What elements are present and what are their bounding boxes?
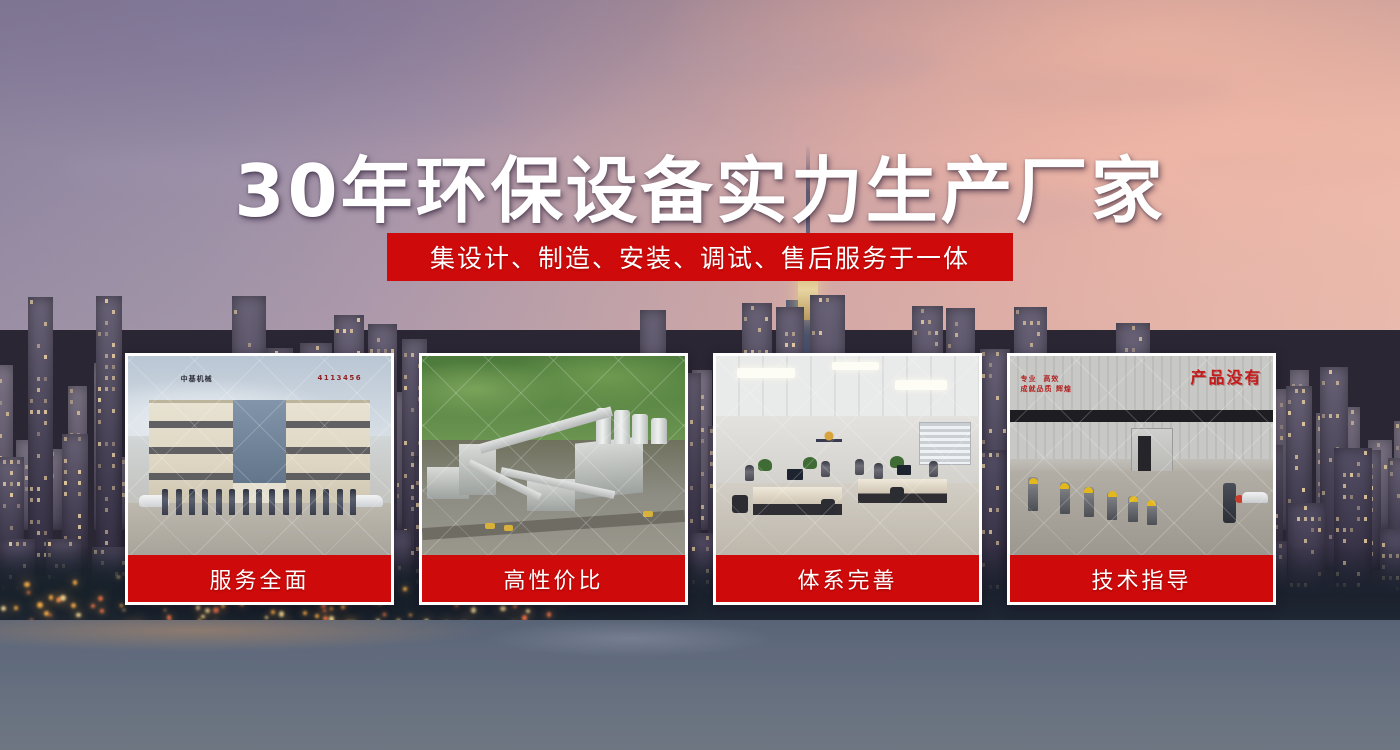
staff-figure — [310, 489, 316, 515]
riverbank-light — [123, 609, 125, 611]
riverbank-light — [196, 605, 200, 609]
riverbank-light — [1, 606, 6, 611]
riverbank-light — [91, 604, 95, 608]
riverbank-light — [73, 580, 78, 585]
technical-training-photo: 产品没有 专业 高效成就品质 辉煌 — [1010, 356, 1273, 555]
feature-card-system[interactable]: 体系完善 — [713, 353, 982, 605]
riverbank-light — [120, 604, 123, 607]
hero-banner: 30年环保设备实力生产厂家 集设计、制造、安装、调试、售后服务于一体 中基机械 — [0, 0, 1400, 750]
hard-hat-icon — [1029, 478, 1038, 484]
subtitle-text: 集设计、制造、安装、调试、售后服务于一体 — [430, 239, 970, 275]
feature-card-row: 中基机械 4113456 服务全面 — [125, 353, 1276, 605]
riverbank-light — [500, 606, 506, 612]
riverbank-light — [205, 608, 210, 613]
riverbank-light — [27, 591, 29, 593]
riverbank-light — [471, 607, 477, 613]
riverbank-light — [100, 609, 103, 612]
riverbank-light — [76, 613, 80, 617]
riverbank-light — [60, 595, 66, 601]
cloud-shape — [300, 95, 520, 129]
skyline-building — [28, 297, 53, 570]
hard-hat-icon — [1060, 483, 1069, 489]
card-caption: 服务全面 — [128, 555, 391, 602]
factory-banner-text: 产品没有 — [1190, 364, 1262, 388]
office-interior-photo — [716, 356, 979, 555]
hard-hat-icon — [1147, 500, 1156, 506]
riverbank-light — [213, 607, 219, 613]
riverbank-light — [279, 611, 285, 617]
staff-figure — [229, 489, 235, 515]
riverbank-light — [315, 614, 319, 618]
staff-figure — [296, 489, 302, 515]
riverbank-light — [323, 609, 326, 612]
hard-hat-icon — [1084, 487, 1093, 493]
riverbank-light — [98, 596, 103, 601]
riverbank-light — [547, 612, 551, 616]
staff-figure — [216, 489, 222, 515]
cloud-shape — [1060, 20, 1300, 54]
staff-figure — [283, 489, 289, 515]
riverbank-light — [341, 605, 345, 609]
feature-card-value[interactable]: 高性价比 — [419, 353, 688, 605]
riverbank-light — [49, 595, 53, 599]
riverbank-light — [164, 609, 166, 611]
feature-card-service[interactable]: 中基机械 4113456 服务全面 — [125, 353, 394, 605]
aerial-plant-photo — [422, 356, 685, 555]
staff-figure — [269, 489, 275, 515]
hard-hat-icon — [1108, 491, 1117, 497]
riverbank-light — [49, 614, 52, 617]
subtitle-banner: 集设计、制造、安装、调试、售后服务于一体 — [387, 233, 1013, 281]
staff-figure — [350, 489, 356, 515]
cloud-shape — [150, 30, 350, 60]
riverbank-light — [409, 614, 411, 616]
riverbank-light — [37, 602, 43, 608]
staff-figure — [337, 489, 343, 515]
riverbank-light — [24, 582, 29, 587]
card-caption: 体系完善 — [716, 555, 979, 602]
staff-figure — [202, 489, 208, 515]
water-reflection — [0, 620, 1400, 750]
riverbank-light — [303, 611, 307, 615]
cloud-shape — [980, 70, 1240, 110]
riverbank-light — [271, 610, 275, 614]
staff-figure — [189, 489, 195, 515]
staff-figure — [162, 489, 168, 515]
company-headquarters-photo: 中基机械 4113456 — [128, 356, 391, 555]
factory-slogan-text: 专业 高效成就品质 辉煌 — [1021, 374, 1072, 395]
page-title: 30年环保设备实力生产厂家 — [0, 132, 1400, 237]
riverbank-light — [117, 576, 120, 579]
riverbank-light — [201, 615, 204, 618]
building-phone-text: 4113456 — [317, 374, 362, 382]
card-caption: 技术指导 — [1010, 555, 1273, 602]
riverbank-light — [14, 606, 18, 610]
staff-figure — [243, 489, 249, 515]
staff-figure — [323, 489, 329, 515]
riverbank-light — [265, 616, 268, 619]
riverbank-light — [526, 609, 530, 613]
building-sign-text: 中基机械 — [181, 374, 213, 384]
riverbank-light — [330, 607, 333, 610]
card-caption: 高性价比 — [422, 555, 685, 602]
skyline-building — [96, 296, 122, 570]
feature-card-training[interactable]: 产品没有 专业 高效成就品质 辉煌 技术指导 — [1007, 353, 1276, 605]
cloud-shape — [640, 40, 940, 86]
hard-hat-icon — [1129, 496, 1138, 502]
staff-figure — [256, 489, 262, 515]
staff-figure — [176, 489, 182, 515]
riverbank-light — [71, 603, 76, 608]
riverbank-light — [57, 599, 60, 602]
riverbank-light — [383, 613, 385, 615]
riverbank-light — [513, 605, 517, 609]
